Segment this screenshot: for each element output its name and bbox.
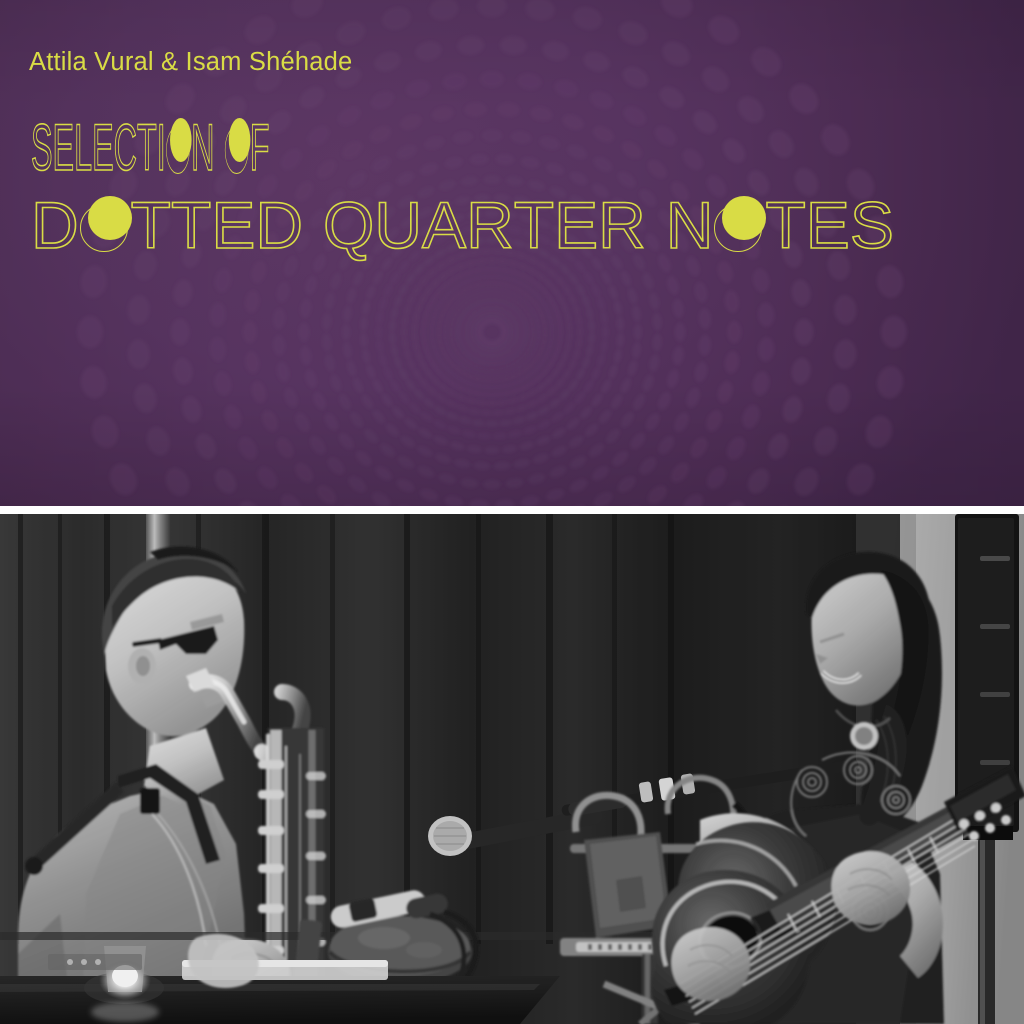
album-title: SELECTINF DTTEDQUARTERNTES [31, 113, 991, 269]
title-letter: R [466, 191, 514, 259]
title-letter: E [554, 191, 598, 259]
title-letter: T [171, 191, 211, 259]
dotted-note-o-glyph [713, 191, 765, 259]
title-letter: S [31, 113, 53, 181]
title-letter: D [255, 191, 303, 259]
title-letter: T [765, 191, 805, 259]
title-letter: Q [323, 191, 374, 259]
title-letter: R [598, 191, 646, 259]
title-letter: T [131, 191, 171, 259]
album-title-line-2: DTTEDQUARTERNTES [31, 191, 991, 259]
title-letter: E [211, 191, 255, 259]
note-dot [88, 196, 132, 240]
title-letter: E [92, 113, 114, 181]
title-letter: N [666, 191, 714, 259]
title-letter: E [53, 113, 75, 181]
title-letter: C [114, 113, 137, 181]
band-photo [0, 514, 1024, 1024]
title-letter: L [74, 113, 92, 181]
note-dot [229, 118, 251, 162]
header-photo-divider [0, 506, 1024, 514]
title-letter: T [137, 113, 157, 181]
dotted-note-o-glyph [224, 113, 249, 181]
title-letter: I [157, 113, 166, 181]
title-letter: E [806, 191, 850, 259]
title-letter: S [850, 191, 894, 259]
dotted-note-o-glyph [166, 113, 191, 181]
album-cover: Attila Vural & Isam Shéhade SELECTINF DT… [0, 0, 1024, 1024]
cover-header: Attila Vural & Isam Shéhade SELECTINF DT… [0, 0, 1024, 506]
title-letter: U [374, 191, 422, 259]
note-dot [170, 118, 192, 162]
title-letter: D [31, 191, 79, 259]
title-letter: A [422, 191, 466, 259]
dotted-note-o-glyph [79, 191, 131, 259]
title-letter: N [191, 113, 214, 181]
band-photo-illustration [0, 514, 1024, 1024]
title-letter: T [514, 191, 554, 259]
title-letter: F [250, 113, 270, 181]
album-title-line-1: SELECTINF [31, 113, 270, 181]
artist-names: Attila Vural & Isam Shéhade [29, 50, 352, 76]
